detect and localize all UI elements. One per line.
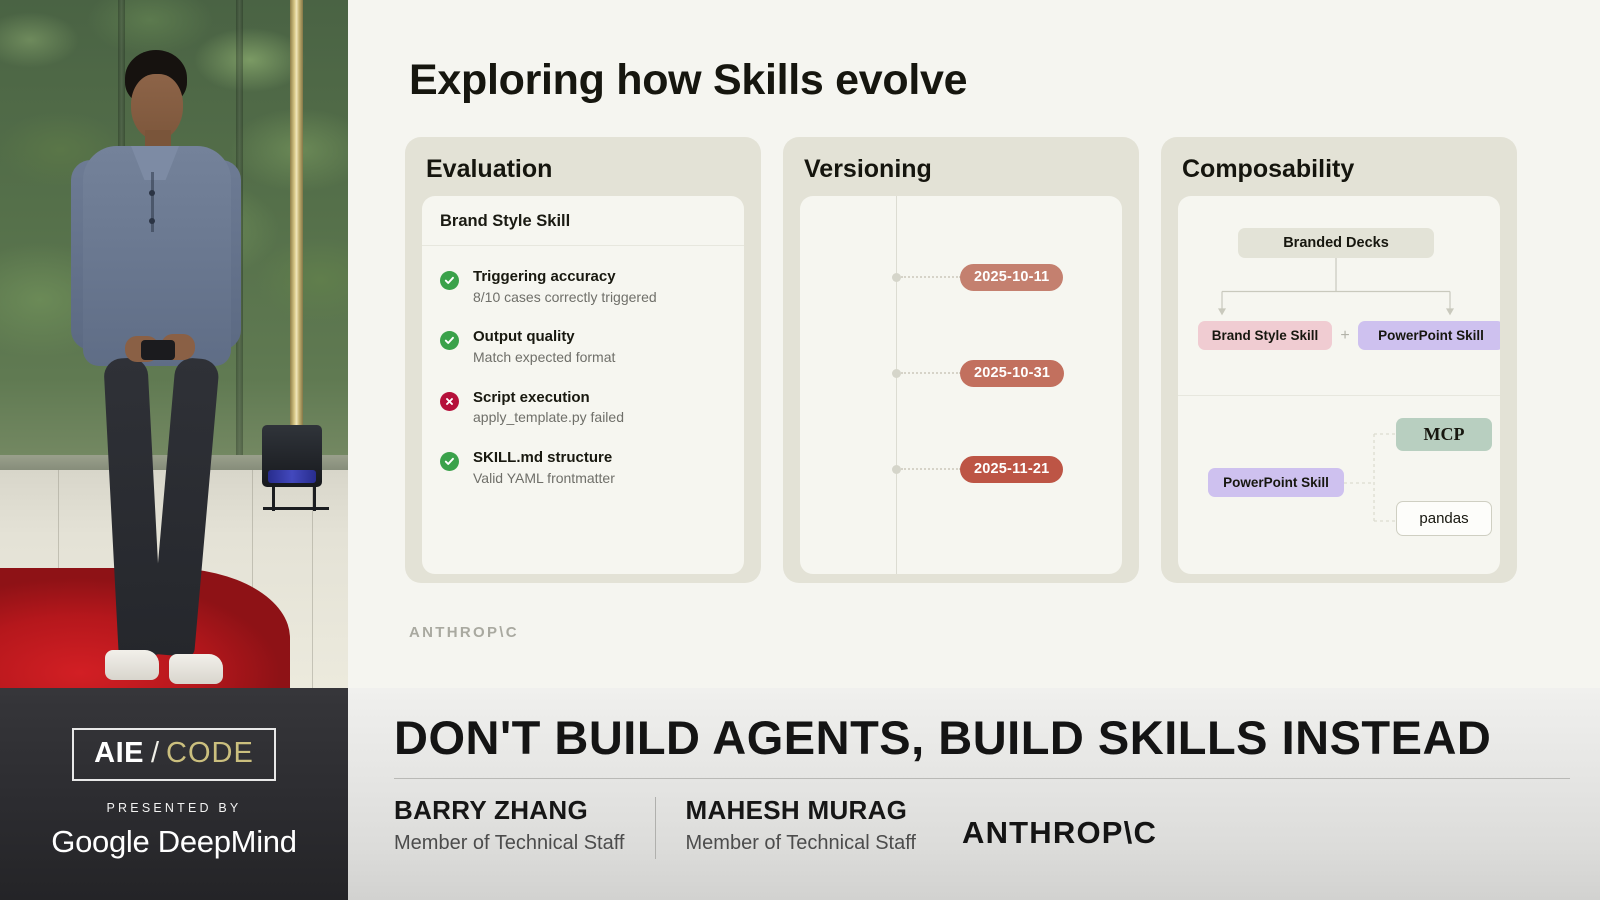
timeline-connector [901,276,961,278]
list-item-detail: Match expected format [473,349,615,367]
aie-code-logo: AIE / CODE [72,728,276,781]
composition-tree: Branded Decks Brand Style Skill + PowerP… [1178,196,1500,396]
speaker-1: BARRY ZHANG Member of Technical Staff [394,795,625,855]
list-item-detail: 8/10 cases correctly triggered [473,289,657,307]
sponsor-bug: AIE / CODE PRESENTED BY Google DeepMind [0,688,348,900]
speaker-2: MAHESH MURAG Member of Technical Staff [686,795,917,855]
check-circle-icon [440,452,459,471]
tree-connector-lines [1178,196,1500,395]
card-row: Evaluation Brand Style Skill Triggering … [405,137,1517,583]
timeline-dot-icon [892,273,901,282]
evaluation-panel: Brand Style Skill Triggering accuracy 8/… [422,196,744,574]
stage-light-stand [272,487,316,511]
presented-by-label: PRESENTED BY [107,801,242,815]
list-item: Output quality Match expected format [440,328,726,366]
node-mcp[interactable]: MCP [1396,418,1492,451]
version-date-pill[interactable]: 2025-10-11 [960,264,1063,291]
list-item-label: Output quality [473,328,575,345]
card-composability: Composability Branded Decks Brand Style … [1161,137,1517,583]
speaker-role: Member of Technical Staff [394,832,625,855]
list-item: Triggering accuracy 8/10 cases correctly… [440,268,726,306]
presentation-slide: Exploring how Skills evolve Evaluation B… [348,0,1600,688]
slide-brand-footer: ANTHROP\C [409,624,519,641]
timeline-connector [901,372,961,374]
timeline-connector [901,468,961,470]
speaker-role: Member of Technical Staff [686,832,917,855]
version-date-pill[interactable]: 2025-11-21 [960,456,1063,483]
logo-aie-text: AIE [94,737,144,770]
card-evaluation: Evaluation Brand Style Skill Triggering … [405,137,761,583]
node-powerpoint-skill[interactable]: PowerPoint Skill [1358,321,1500,350]
timeline-entry: 2025-11-21 [800,456,1122,482]
check-circle-icon [440,331,459,350]
evaluation-check-list: Triggering accuracy 8/10 cases correctly… [422,246,744,487]
list-item-label: Script execution [473,389,590,406]
list-item-detail: apply_template.py failed [473,409,624,427]
timeline-entry: 2025-10-11 [800,264,1122,290]
version-timeline: 2025-10-11 2025-10-31 2025-11-21 [800,196,1122,574]
google-deepmind-wordmark: Google DeepMind [51,824,296,860]
speaker-figure [55,50,255,688]
timeline-entry: 2025-10-31 [800,360,1122,386]
evaluation-subject: Brand Style Skill [422,196,744,246]
timeline-dot-icon [892,465,901,474]
timeline-dot-icon [892,369,901,378]
logo-slash: / [151,737,159,770]
composition-dependencies: PowerPoint Skill MCP pandas [1178,396,1500,573]
talk-title: DON'T BUILD AGENTS, BUILD SKILLS INSTEAD [394,710,1570,765]
node-branded-decks[interactable]: Branded Decks [1238,228,1434,258]
list-item-label: Triggering accuracy [473,268,616,285]
plus-symbol: + [1332,321,1358,350]
card-versioning: Versioning 2025-10-11 2025-10-31 [783,137,1139,583]
speaker-list: BARRY ZHANG Member of Technical Staff MA… [394,779,1570,859]
x-circle-icon [440,392,459,411]
card-title-evaluation: Evaluation [426,155,744,184]
page-title: Exploring how Skills evolve [409,56,967,105]
company-brand: ANTHROP\C [962,815,1157,851]
check-circle-icon [440,271,459,290]
lower-third-banner: DON'T BUILD AGENTS, BUILD SKILLS INSTEAD… [348,688,1600,900]
list-item: Script execution apply_template.py faile… [440,389,726,427]
card-title-versioning: Versioning [804,155,1122,184]
version-date-pill[interactable]: 2025-10-31 [960,360,1064,387]
speaker-name: MAHESH MURAG [686,795,917,826]
list-item-detail: Valid YAML frontmatter [473,470,615,488]
stage-light [262,425,322,487]
node-powerpoint-skill-dependency[interactable]: PowerPoint Skill [1208,468,1344,497]
card-title-composability: Composability [1182,155,1500,184]
versioning-panel: 2025-10-11 2025-10-31 2025-11-21 [800,196,1122,574]
vertical-divider [655,797,656,859]
composability-panel: Branded Decks Brand Style Skill + PowerP… [1178,196,1500,574]
screen: AIE / CODE PRESENTED BY Google DeepMind … [0,0,1600,900]
speaker-video-feed [0,0,348,688]
list-item: SKILL.md structure Valid YAML frontmatte… [440,449,726,487]
node-pandas[interactable]: pandas [1396,501,1492,536]
logo-code-text: CODE [166,737,254,770]
speaker-name: BARRY ZHANG [394,795,625,826]
list-item-label: SKILL.md structure [473,449,612,466]
node-brand-style-skill[interactable]: Brand Style Skill [1198,321,1332,350]
